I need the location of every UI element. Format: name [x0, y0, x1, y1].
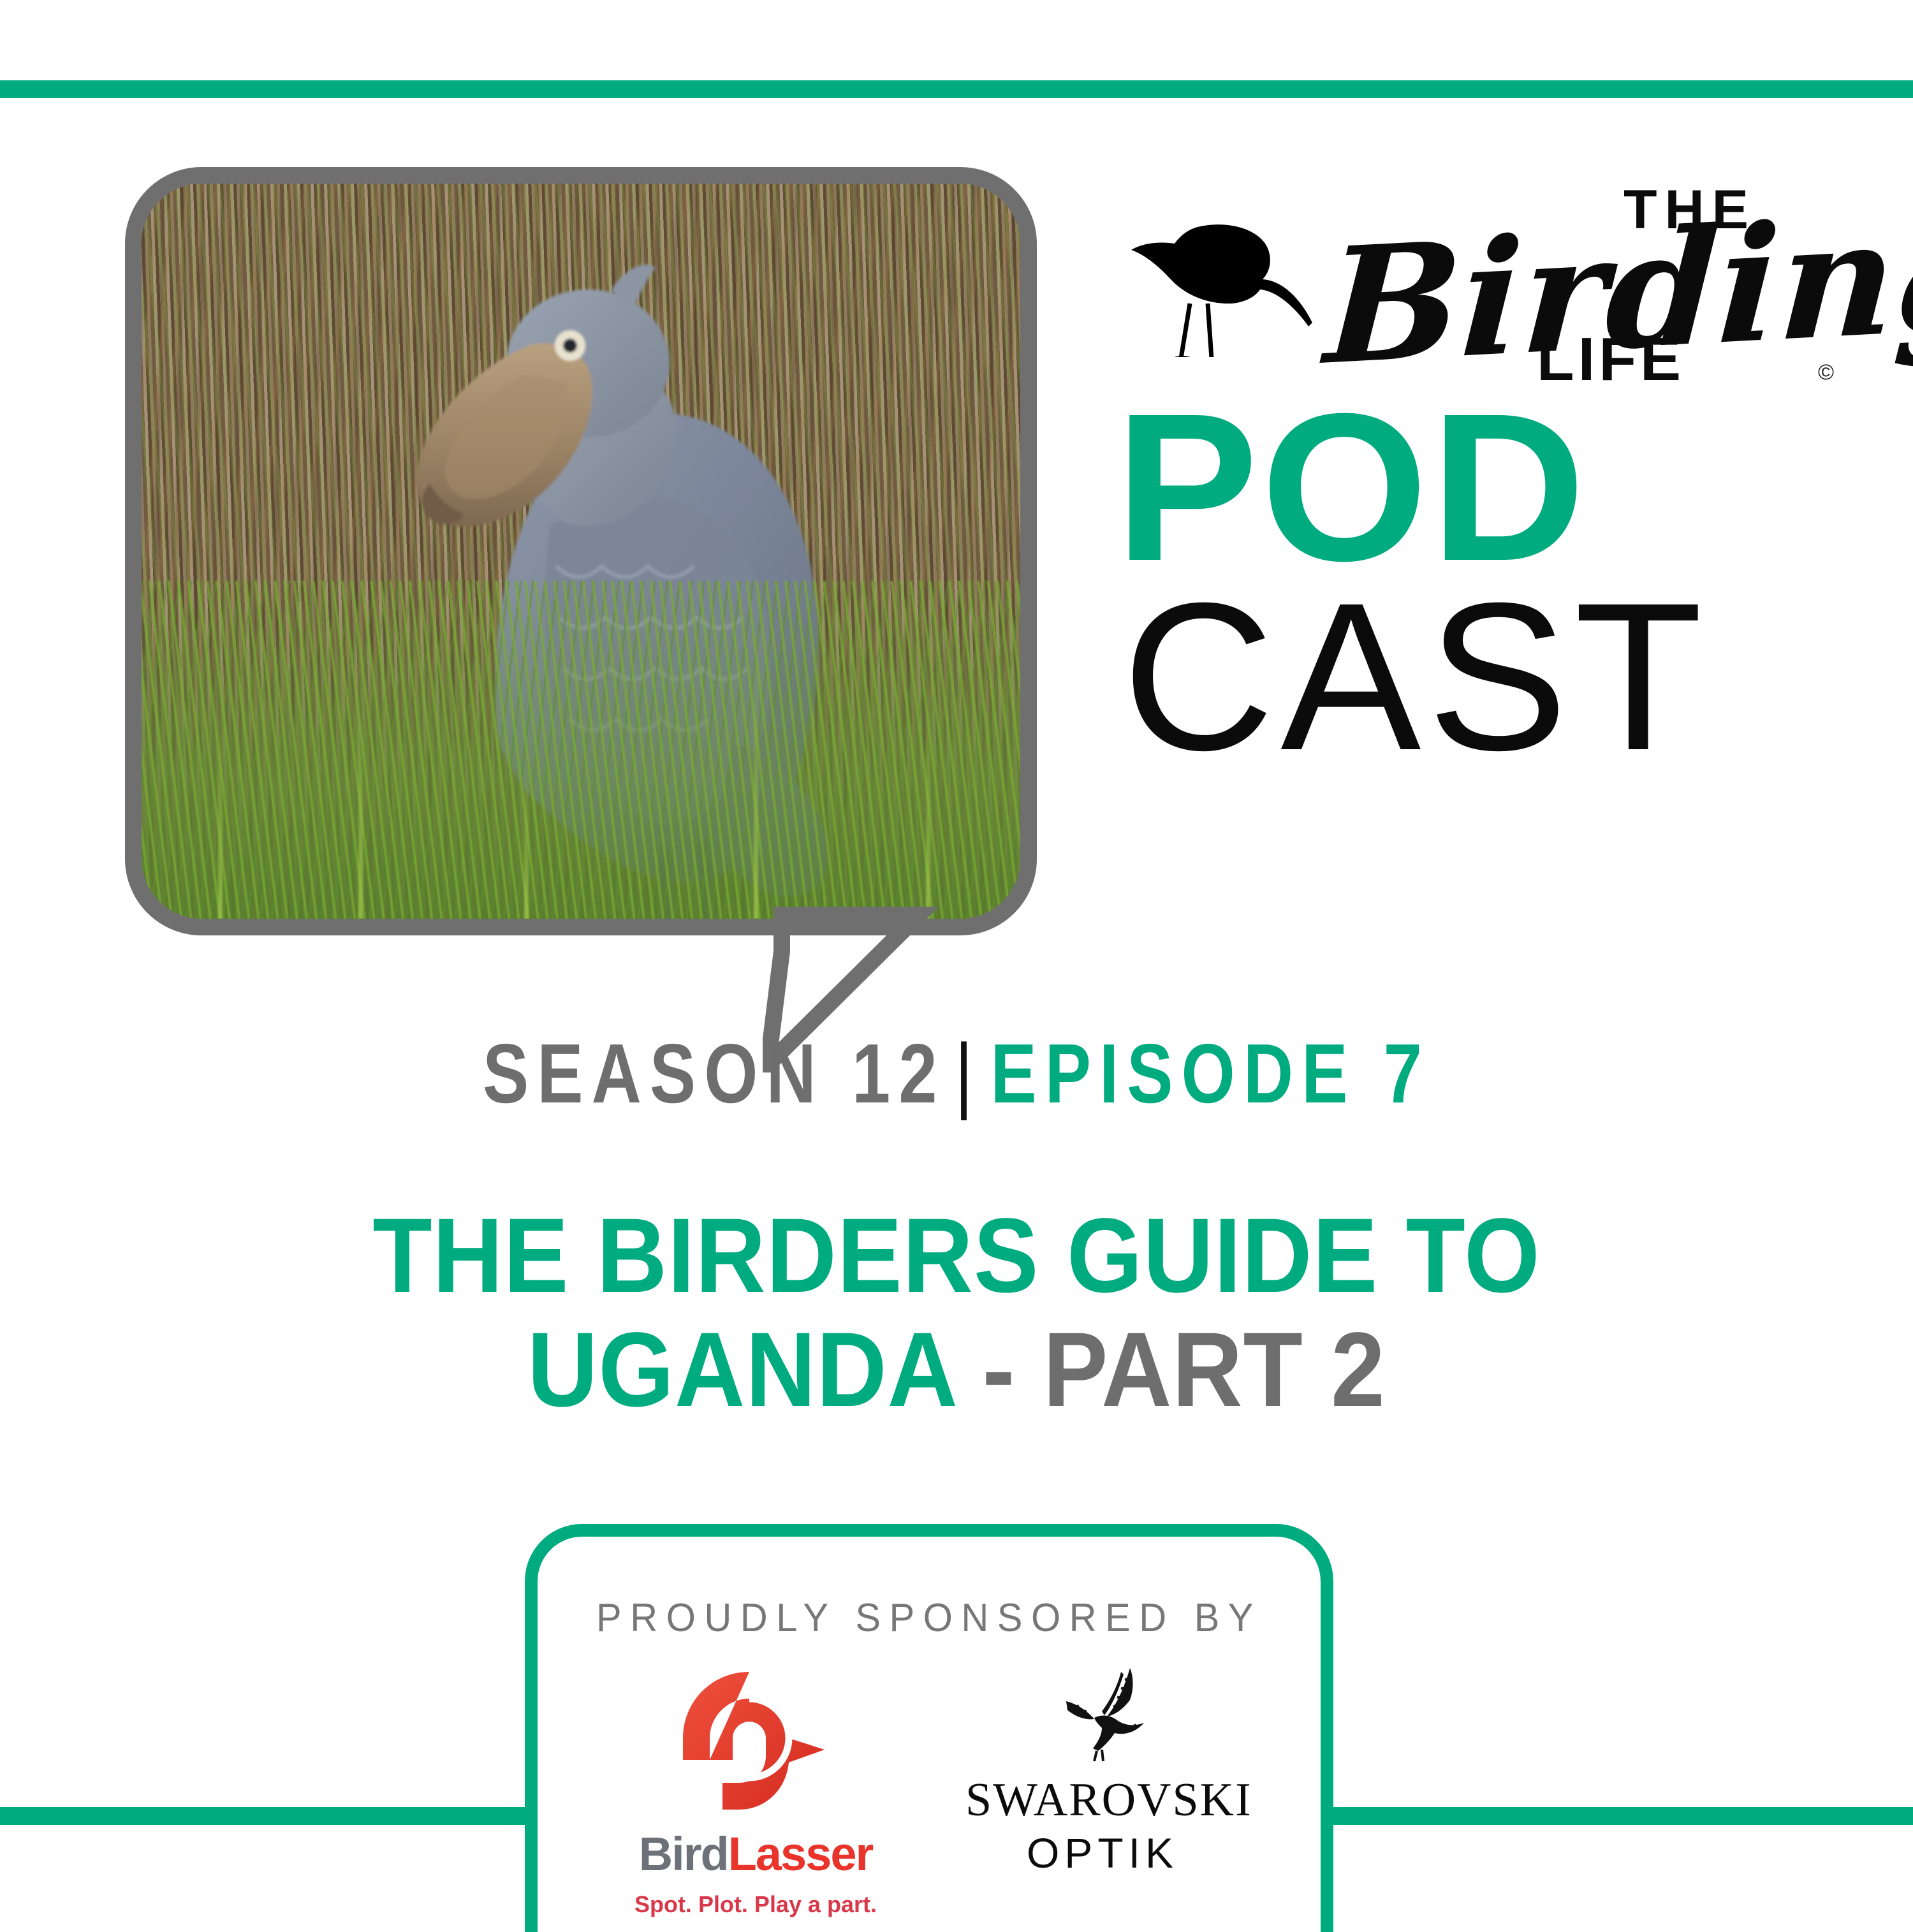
episode-title-secondary: - PART 2 — [983, 1311, 1386, 1429]
sponsor-logos: BirdLasser Spot. Plot. Play a part. — [538, 1664, 1321, 1918]
brand-and-podcast-column: THE Birding LIFE © POD CAST — [1122, 179, 1836, 773]
swarovski-optik-text: OPTIK — [965, 1829, 1240, 1877]
episode-label: EPISODE 7 — [990, 1027, 1430, 1120]
birdlasser-word-bird: Bird — [639, 1827, 728, 1880]
swarovski-hawk-icon — [1048, 1664, 1157, 1766]
wader-bird-silhouette-icon — [1129, 204, 1333, 357]
season-episode-divider: | — [946, 1027, 991, 1120]
cover-photo-bubble — [125, 167, 1037, 1021]
logo-wordmark: THE Birding LIFE © — [1333, 179, 1830, 389]
logo-copyright-mark: © — [1818, 360, 1834, 385]
sponsor-birdlasser[interactable]: BirdLasser Spot. Plot. Play a part. — [619, 1664, 893, 1918]
grass-blade — [524, 759, 529, 919]
grass-blade — [926, 708, 930, 919]
sponsor-swarovski[interactable]: SWAROVSKI OPTIK — [965, 1664, 1240, 1877]
birdlasser-wordmark: BirdLasser — [619, 1827, 893, 1881]
sponsor-box: PROUDLY SPONSORED BY BirdLasser — [525, 1524, 1333, 1932]
grass-layer — [142, 581, 1020, 919]
swarovski-wordmark: SWAROVSKI — [965, 1773, 1240, 1827]
episode-title: THE BIRDERS GUIDE TO UGANDA - PART 2 — [194, 1199, 1719, 1428]
grass-blade — [754, 651, 758, 919]
sponsor-label: PROUDLY SPONSORED BY — [553, 1595, 1305, 1641]
season-label: SEASON 12 — [483, 1027, 946, 1120]
podcast-word-pod: POD — [1115, 398, 1843, 577]
season-episode-line: SEASON 12|EPISODE 7 — [172, 1032, 1741, 1116]
the-birding-life-logo: THE Birding LIFE © — [1122, 179, 1836, 389]
top-accent-rule — [0, 80, 1913, 98]
grass-blade — [218, 728, 223, 919]
bottom-accent-rule-left — [0, 1807, 525, 1825]
photo-frame — [125, 167, 1037, 935]
podcast-word-cast: CAST — [1122, 580, 1836, 773]
birdlasser-bird-head-pin-icon — [673, 1664, 839, 1817]
birdlasser-tagline: Spot. Plot. Play a part. — [619, 1891, 893, 1918]
grass-blade — [358, 677, 363, 919]
bottom-accent-rule-right — [1333, 1807, 1913, 1825]
shoebill-photo — [142, 184, 1020, 919]
birdlasser-word-lasser: Lasser — [728, 1827, 873, 1880]
